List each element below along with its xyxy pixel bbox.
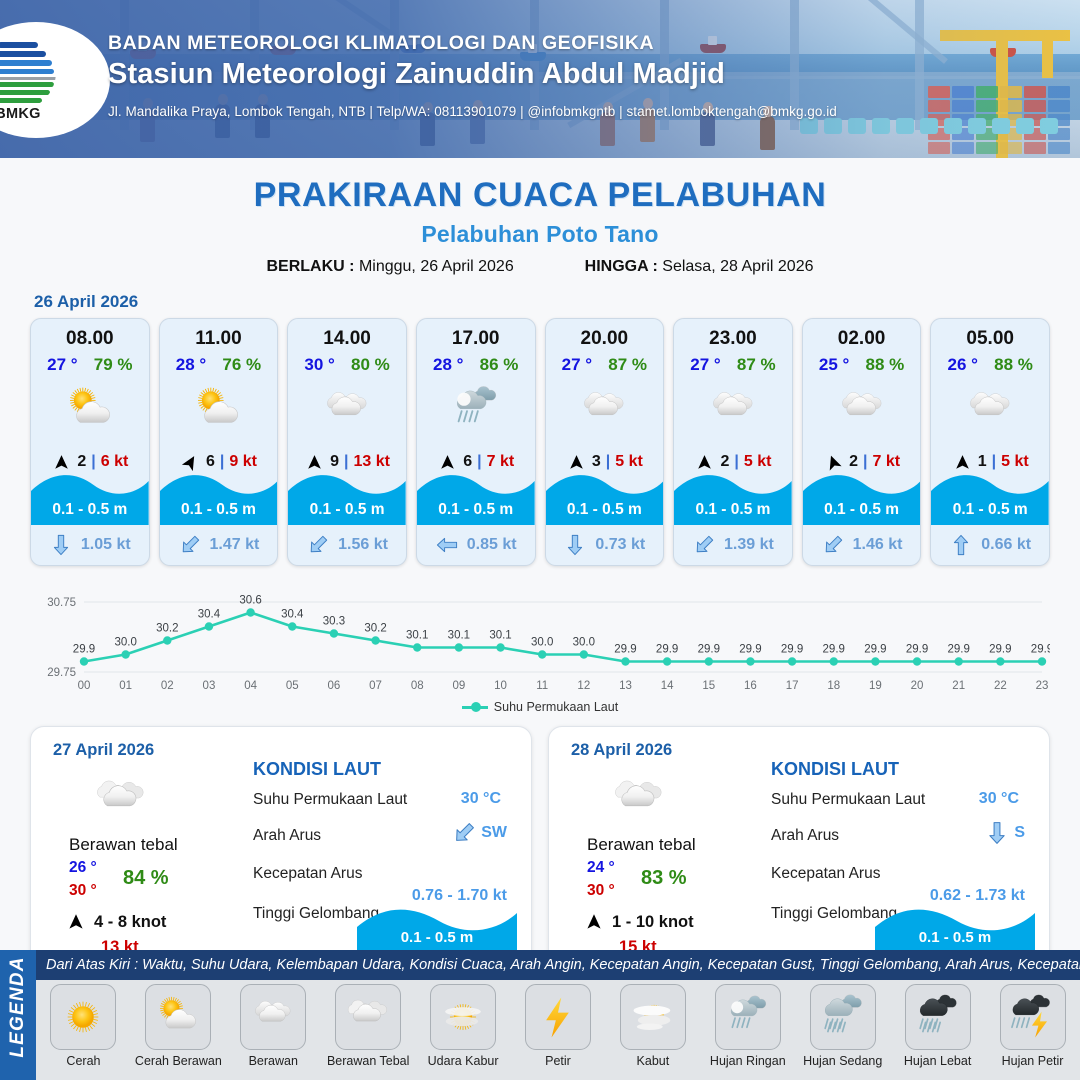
- chart-legend-label: Suhu Permukaan Laut: [494, 700, 618, 714]
- card-time: 11.00: [160, 328, 278, 350]
- legend-item-label: Hujan Petir: [987, 1054, 1079, 1068]
- svg-text:30.6: 30.6: [239, 595, 261, 607]
- legend-icon-kabut: [620, 984, 686, 1050]
- current-direction-label: Arah Arus: [771, 827, 839, 845]
- hourly-card[interactable]: 08.00 27 ° 79 % 2 | 6 kt 0.1 - 0.5 m 1.0: [30, 318, 150, 566]
- current-direction-value: S: [1014, 824, 1025, 842]
- hourly-card[interactable]: 20.00 27 ° 87 % 3 | 5 kt 0.1 - 0.5 m 0.7: [545, 318, 665, 566]
- card-current-speed: 0.66 kt: [981, 536, 1031, 554]
- svg-text:01: 01: [119, 680, 132, 692]
- hourly-card[interactable]: 14.00 30 ° 80 % 9 | 13 kt 0.1 - 0.5 m 1.: [287, 318, 407, 566]
- legend-item: Petir: [512, 984, 604, 1068]
- card-wave-height: 0.1 - 0.5 m: [31, 501, 149, 519]
- legend-item: Hujan Lebat: [892, 984, 984, 1068]
- svg-text:10: 10: [494, 680, 507, 692]
- berlaku-label: BERLAKU :: [267, 258, 355, 275]
- svg-text:11: 11: [536, 680, 548, 692]
- svg-text:06: 06: [328, 680, 341, 692]
- card-weather-icon-hujan-ringan: [417, 379, 535, 441]
- svg-text:22: 22: [994, 680, 1007, 692]
- card-current: 0.85 kt: [417, 533, 535, 557]
- svg-text:08: 08: [411, 680, 424, 692]
- legend-item-label: Berawan: [227, 1054, 319, 1068]
- svg-text:18: 18: [827, 680, 840, 692]
- current-speed-label: Kecepatan Arus: [253, 865, 362, 883]
- card-temperature: 27 °: [562, 355, 592, 375]
- card-wave-height: 0.1 - 0.5 m: [160, 501, 278, 519]
- svg-text:30.3: 30.3: [323, 616, 345, 628]
- legend-description-strip: Dari Atas Kiri : Waktu, Suhu Udara, Kele…: [36, 950, 1080, 980]
- legend-item-label: Cerah Berawan: [132, 1054, 224, 1068]
- card-current: 1.46 kt: [803, 533, 921, 557]
- svg-text:30.0: 30.0: [573, 637, 595, 649]
- bmkg-logo-icon: [0, 34, 56, 110]
- daily-wind-range: 4 - 8 knot: [94, 913, 166, 932]
- sst-chart: 30.7529.7529.90030.00130.20230.40330.604…: [30, 580, 1050, 698]
- card-current: 1.56 kt: [288, 533, 406, 557]
- legend-icon-hujan-sedang: [810, 984, 876, 1050]
- daily-panel[interactable]: 27 April 2026 Berawan tebal 26 ° 30 ° 84…: [30, 726, 532, 974]
- card-current-speed: 1.46 kt: [853, 536, 903, 554]
- card-humidity: 87 %: [608, 355, 647, 375]
- daily-wind-direction-arrow-icon: [65, 911, 87, 933]
- svg-text:14: 14: [661, 680, 674, 692]
- legend-icon-berawan-tebal: [335, 984, 401, 1050]
- current-speed-label: Kecepatan Arus: [771, 865, 880, 883]
- current-direction-arrow-icon: [563, 533, 587, 557]
- card-time: 17.00: [417, 328, 535, 350]
- sst-value: 30 °C: [979, 790, 1019, 808]
- card-weather-icon-cerah-berawan: [160, 379, 278, 441]
- legend-icon-hujan-ringan: [715, 984, 781, 1050]
- daily-wave-graphic: 0.1 - 0.5 m: [357, 897, 517, 955]
- svg-text:20: 20: [911, 680, 924, 692]
- validity-range: BERLAKU : Minggu, 26 April 2026 HINGGA :…: [0, 258, 1080, 276]
- daily-weather-icon-berawan-tebal: [89, 769, 153, 838]
- hourly-card[interactable]: 23.00 27 ° 87 % 2 | 5 kt 0.1 - 0.5 m 1.3: [673, 318, 793, 566]
- daily-temp-max: 30 °: [587, 882, 615, 900]
- card-temperature: 27 °: [47, 355, 77, 375]
- card-current: 1.39 kt: [674, 533, 792, 557]
- page-title: PRAKIRAAN CUACA PELABUHAN: [0, 176, 1080, 215]
- current-direction-value-group: SW: [451, 820, 507, 846]
- daily-panel[interactable]: 28 April 2026 Berawan tebal 24 ° 30 ° 83…: [548, 726, 1050, 974]
- svg-text:30.0: 30.0: [114, 637, 136, 649]
- header-agency-name: BADAN METEOROLOGI KLIMATOLOGI DAN GEOFIS…: [108, 32, 654, 55]
- card-temperature: 26 °: [947, 355, 977, 375]
- berlaku-value: Minggu, 26 April 2026: [359, 258, 514, 275]
- legend-icon-hujan-petir: [1000, 984, 1066, 1050]
- legend-item-label: Berawan Tebal: [322, 1054, 414, 1068]
- card-weather-icon-berawan: [546, 379, 664, 441]
- legend-icon-cerah-berawan: [145, 984, 211, 1050]
- daily-forecast-panels: 27 April 2026 Berawan tebal 26 ° 30 ° 84…: [0, 714, 1080, 974]
- svg-text:29.75: 29.75: [47, 667, 76, 679]
- legend-item: Cerah: [37, 984, 129, 1068]
- daily-condition: Berawan tebal: [587, 835, 696, 855]
- legend-item: Hujan Petir: [987, 984, 1079, 1068]
- legend-item: Berawan Tebal: [322, 984, 414, 1068]
- daily-wind-range: 1 - 10 knot: [612, 913, 694, 932]
- card-humidity: 87 %: [737, 355, 776, 375]
- card-current: 0.66 kt: [931, 533, 1049, 557]
- current-direction-value: SW: [481, 824, 507, 842]
- card-current-speed: 0.85 kt: [467, 536, 517, 554]
- daily-wind-direction-arrow-icon: [583, 911, 605, 933]
- legend-item-label: Hujan Sedang: [797, 1054, 889, 1068]
- card-time: 08.00: [31, 328, 149, 350]
- card-current-speed: 0.73 kt: [595, 536, 645, 554]
- daily-humidity: 84 %: [123, 867, 169, 890]
- legend-side-label: LEGENDA: [7, 955, 29, 1059]
- card-time: 02.00: [803, 328, 921, 350]
- card-wave-height: 0.1 - 0.5 m: [417, 501, 535, 519]
- card-temperature: 27 °: [690, 355, 720, 375]
- card-wave-height: 0.1 - 0.5 m: [288, 501, 406, 519]
- hourly-card[interactable]: 17.00 28 ° 86 % 6 | 7 kt 0.1 - 0.5 m 0.8: [416, 318, 536, 566]
- sea-condition-title: KONDISI LAUT: [253, 759, 381, 780]
- daily-temp-max: 30 °: [69, 882, 97, 900]
- svg-text:29.9: 29.9: [1031, 644, 1050, 656]
- legend-item: Hujan Ringan: [702, 984, 794, 1068]
- svg-text:30.4: 30.4: [198, 609, 221, 621]
- card-humidity: 86 %: [480, 355, 519, 375]
- card-current: 1.47 kt: [160, 533, 278, 557]
- svg-text:30.2: 30.2: [364, 623, 386, 635]
- daily-wave-graphic: 0.1 - 0.5 m: [875, 897, 1035, 955]
- svg-text:29.9: 29.9: [614, 644, 636, 656]
- current-direction-arrow-icon: [178, 533, 202, 557]
- legend-icon-berawan: [240, 984, 306, 1050]
- hourly-card[interactable]: 05.00 26 ° 88 % 1 | 5 kt 0.1 - 0.5 m 0.6: [930, 318, 1050, 566]
- card-current-speed: 1.39 kt: [724, 536, 774, 554]
- svg-text:29.9: 29.9: [781, 644, 803, 656]
- svg-text:29.9: 29.9: [698, 644, 720, 656]
- svg-text:19: 19: [869, 680, 882, 692]
- hingga-value: Selasa, 28 April 2026: [662, 258, 813, 275]
- svg-text:00: 00: [78, 680, 91, 692]
- card-humidity: 88 %: [866, 355, 905, 375]
- daily-current-arrow-icon: [984, 820, 1010, 846]
- svg-text:30.1: 30.1: [489, 630, 511, 642]
- bmkg-logo-text: BMKG: [0, 106, 60, 122]
- daily-temp-min: 24 °: [587, 859, 615, 877]
- svg-text:30.0: 30.0: [531, 637, 553, 649]
- card-temperature: 30 °: [304, 355, 334, 375]
- legend-item: Cerah Berawan: [132, 984, 224, 1068]
- hingga-label: HINGGA :: [585, 258, 658, 275]
- daily-wave-value: 0.1 - 0.5 m: [357, 929, 517, 946]
- header-station-name: Stasiun Meteorologi Zainuddin Abdul Madj…: [108, 58, 725, 91]
- svg-text:02: 02: [161, 680, 174, 692]
- legend-item: Udara Kabur: [417, 984, 509, 1068]
- daily-condition: Berawan tebal: [69, 835, 178, 855]
- card-current: 0.73 kt: [546, 533, 664, 557]
- card-weather-icon-cerah-berawan: [31, 379, 149, 441]
- legend-item-label: Udara Kabur: [417, 1054, 509, 1068]
- svg-text:07: 07: [369, 680, 382, 692]
- svg-text:30.4: 30.4: [281, 609, 304, 621]
- svg-text:30.1: 30.1: [448, 630, 470, 642]
- card-weather-icon-berawan: [288, 379, 406, 441]
- daily-wave-value: 0.1 - 0.5 m: [875, 929, 1035, 946]
- svg-text:29.9: 29.9: [739, 644, 761, 656]
- svg-text:30.75: 30.75: [47, 597, 76, 609]
- card-wave-height: 0.1 - 0.5 m: [803, 501, 921, 519]
- current-direction-label: Arah Arus: [253, 827, 321, 845]
- card-time: 20.00: [546, 328, 664, 350]
- card-time: 14.00: [288, 328, 406, 350]
- legend-item: Hujan Sedang: [797, 984, 889, 1068]
- card-current: 1.05 kt: [31, 533, 149, 557]
- legend-icon-udara-kabur: [430, 984, 496, 1050]
- legend-item-label: Cerah: [37, 1054, 129, 1068]
- legend-item-label: Kabut: [607, 1054, 699, 1068]
- svg-text:16: 16: [744, 680, 757, 692]
- daily-date: 28 April 2026: [571, 741, 672, 760]
- current-direction-arrow-icon: [821, 533, 845, 557]
- current-direction-value-group: S: [984, 820, 1025, 846]
- svg-text:29.9: 29.9: [906, 644, 928, 656]
- hourly-forecast-cards: 08.00 27 ° 79 % 2 | 6 kt 0.1 - 0.5 m 1.0: [0, 318, 1080, 566]
- card-wave-height: 0.1 - 0.5 m: [546, 501, 664, 519]
- daily-weather-icon-berawan-tebal: [607, 769, 671, 838]
- svg-text:29.9: 29.9: [989, 644, 1011, 656]
- legend-icon-hujan-lebat: [905, 984, 971, 1050]
- card-humidity: 79 %: [94, 355, 133, 375]
- card-time: 23.00: [674, 328, 792, 350]
- hourly-card[interactable]: 02.00 25 ° 88 % 2 | 7 kt 0.1 - 0.5 m 1.4: [802, 318, 922, 566]
- card-humidity: 80 %: [351, 355, 390, 375]
- svg-text:05: 05: [286, 680, 299, 692]
- legend-icon-petir: [525, 984, 591, 1050]
- svg-text:29.9: 29.9: [73, 644, 95, 656]
- daily-wind: 4 - 8 knot: [65, 911, 166, 933]
- svg-text:29.9: 29.9: [823, 644, 845, 656]
- legend-item: Berawan: [227, 984, 319, 1068]
- header-contact-info: Jl. Mandalika Praya, Lombok Tengah, NTB …: [108, 104, 837, 119]
- svg-text:23: 23: [1036, 680, 1049, 692]
- legend-item-label: Hujan Ringan: [702, 1054, 794, 1068]
- card-humidity: 88 %: [994, 355, 1033, 375]
- svg-text:13: 13: [619, 680, 632, 692]
- card-weather-icon-berawan: [931, 379, 1049, 441]
- svg-text:09: 09: [452, 680, 465, 692]
- card-current-speed: 1.05 kt: [81, 536, 131, 554]
- svg-text:04: 04: [244, 680, 257, 692]
- svg-text:15: 15: [702, 680, 715, 692]
- daily-date: 27 April 2026: [53, 741, 154, 760]
- card-time: 05.00: [931, 328, 1049, 350]
- svg-text:29.9: 29.9: [948, 644, 970, 656]
- card-wave-height: 0.1 - 0.5 m: [931, 501, 1049, 519]
- svg-text:30.2: 30.2: [156, 623, 178, 635]
- legend-icon-cerah: [50, 984, 116, 1050]
- card-temperature: 25 °: [819, 355, 849, 375]
- current-direction-arrow-icon: [49, 533, 73, 557]
- card-weather-icon-berawan: [674, 379, 792, 441]
- daily-current-arrow-icon: [451, 820, 477, 846]
- card-wave-height: 0.1 - 0.5 m: [674, 501, 792, 519]
- svg-text:12: 12: [577, 680, 590, 692]
- hourly-card[interactable]: 11.00 28 ° 76 % 6 | 9 kt 0.1 - 0.5 m 1.4: [159, 318, 279, 566]
- legend-item-label: Petir: [512, 1054, 604, 1068]
- card-weather-icon-berawan: [803, 379, 921, 441]
- card-current-speed: 1.56 kt: [338, 536, 388, 554]
- legend-icon-list: Cerah Cerah Berawan Berawan B: [36, 980, 1080, 1080]
- legend-item: Kabut: [607, 984, 699, 1068]
- legend-footer: LEGENDA Dari Atas Kiri : Waktu, Suhu Uda…: [0, 950, 1080, 1080]
- card-temperature: 28 °: [176, 355, 206, 375]
- hourly-date-label: 26 April 2026: [34, 292, 1080, 312]
- svg-text:17: 17: [786, 680, 799, 692]
- card-humidity: 76 %: [222, 355, 261, 375]
- svg-text:30.1: 30.1: [406, 630, 428, 642]
- daily-temp-min: 26 °: [69, 859, 97, 877]
- svg-text:21: 21: [952, 680, 965, 692]
- sea-condition-title: KONDISI LAUT: [771, 759, 899, 780]
- daily-humidity: 83 %: [641, 867, 687, 890]
- current-direction-arrow-icon: [306, 533, 330, 557]
- legend-item-label: Hujan Lebat: [892, 1054, 984, 1068]
- current-direction-arrow-icon: [949, 533, 973, 557]
- card-current-speed: 1.47 kt: [210, 536, 260, 554]
- current-direction-arrow-icon: [435, 533, 459, 557]
- svg-text:29.9: 29.9: [656, 644, 678, 656]
- legend-side-bar: LEGENDA: [0, 950, 36, 1080]
- chart-legend: Suhu Permukaan Laut: [0, 700, 1080, 714]
- sst-label: Suhu Permukaan Laut: [771, 791, 925, 809]
- svg-text:29.9: 29.9: [864, 644, 886, 656]
- page-subtitle: Pelabuhan Poto Tano: [0, 221, 1080, 248]
- current-direction-arrow-icon: [692, 533, 716, 557]
- daily-wind: 1 - 10 knot: [583, 911, 694, 933]
- sst-value: 30 °C: [461, 790, 501, 808]
- legend-marker-icon: [462, 706, 488, 709]
- sst-label: Suhu Permukaan Laut: [253, 791, 407, 809]
- svg-text:03: 03: [203, 680, 216, 692]
- page-header: BMKG BADAN METEOROLOGI KLIMATOLOGI DAN G…: [0, 0, 1080, 158]
- card-temperature: 28 °: [433, 355, 463, 375]
